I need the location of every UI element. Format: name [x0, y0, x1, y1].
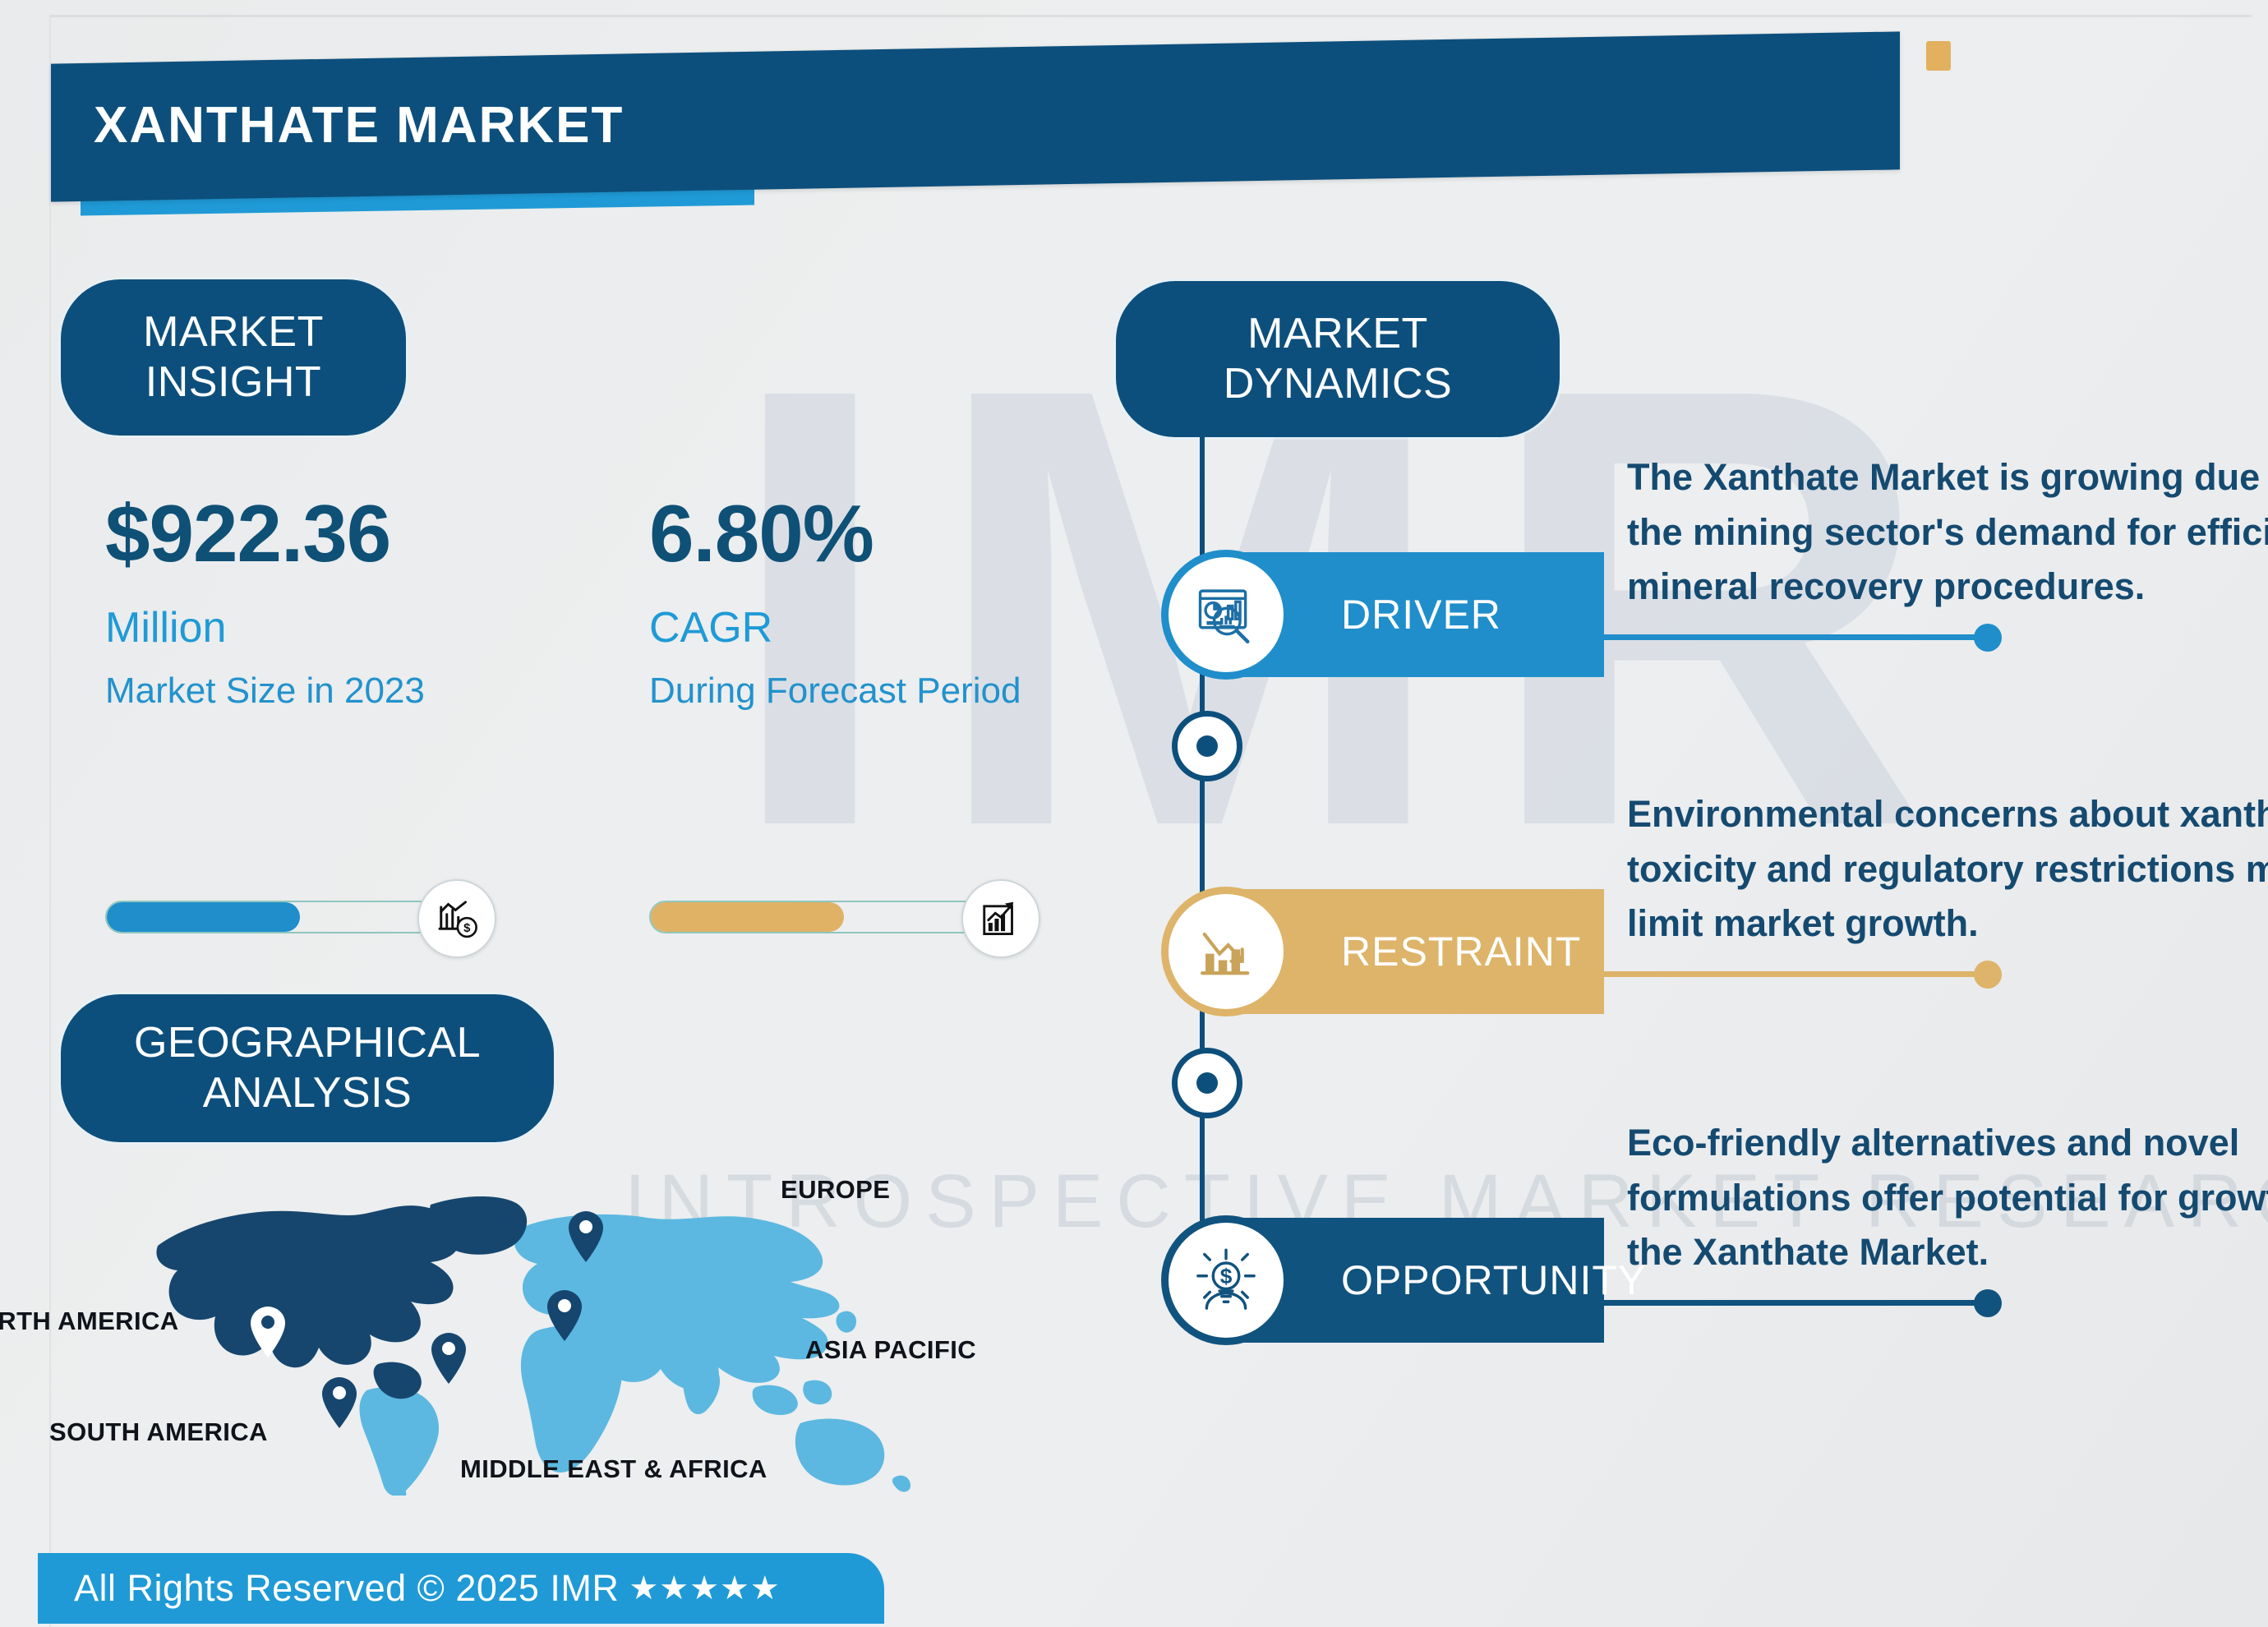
title-banner: XANTHATE MARKET [51, 48, 766, 204]
corner-tab-marker [1926, 41, 1951, 71]
svg-text:$: $ [1220, 1264, 1233, 1288]
driver-connector [1604, 634, 1990, 640]
stat-market-size: $922.36 Million Market Size in 2023 [105, 493, 425, 717]
restraint-label: RESTRAINT [1341, 928, 1581, 975]
stat-cagr: 6.80% CAGR During Forecast Period [649, 493, 1021, 717]
restraint-connector-dot [1974, 961, 2002, 989]
page-title: XANTHATE MARKET [94, 96, 624, 154]
lightbulb-dollar-icon: $ [1169, 1223, 1284, 1338]
market-insight-pill-label: MARKETINSIGHT [143, 307, 324, 408]
market-size-unit: Million [105, 601, 425, 654]
opportunity-connector-dot [1974, 1289, 2002, 1317]
cagr-value: 6.80% [649, 493, 1021, 574]
opportunity-label: OPPORTUNITY [1341, 1256, 1646, 1304]
market-size-value: $922.36 [105, 493, 425, 574]
footer-bar: All Rights Reserved © 2025 IMR ★★★★★ [38, 1553, 884, 1624]
driver-label: DRIVER [1341, 591, 1501, 638]
map-label-europe: EUROPE [781, 1175, 890, 1205]
market-dynamics-pill-label: MARKETDYNAMICS [1224, 309, 1452, 410]
market-size-description: Market Size in 2023 [105, 666, 425, 717]
restraint-connector [1604, 971, 1990, 977]
map-label-asia-pacific: ASIA PACIFIC [805, 1335, 976, 1365]
svg-text:$: $ [463, 922, 471, 935]
market-dynamics-pill: MARKETDYNAMICS [1116, 281, 1560, 437]
declining-bar-chart-icon [1169, 894, 1284, 1009]
restraint-text: Environmental concerns about xanthate to… [1627, 787, 2268, 952]
title-band: XANTHATE MARKET [51, 31, 1900, 201]
market-size-progress-row: $ [105, 879, 532, 955]
market-size-progress-track [105, 901, 454, 933]
opportunity-text: Eco-friendly alternatives and novel form… [1627, 1116, 2268, 1280]
opportunity-connector [1604, 1300, 1990, 1306]
cagr-description: During Forecast Period [649, 666, 1021, 717]
geographical-analysis-pill: GEOGRAPHICALANALYSIS [61, 994, 554, 1142]
timeline-node-2 [1172, 1048, 1242, 1118]
infographic-page: IMR INTROSPECTIVE MARKET RESEARCH XANTHA… [0, 0, 2268, 1627]
cagr-unit: CAGR [649, 601, 1021, 654]
market-insight-pill: MARKETINSIGHT [61, 279, 406, 436]
rating-stars: ★★★★★ [629, 1569, 780, 1607]
map-label-south-america: SOUTH AMERICA [49, 1417, 268, 1447]
copyright-text: All Rights Reserved © 2025 IMR [74, 1567, 619, 1610]
driver-bar[interactable]: DRIVER [1226, 552, 1604, 677]
driver-text: The Xanthate Market is growing due to th… [1627, 450, 2268, 615]
map-label-north-america: NORTH AMERICA [0, 1307, 179, 1336]
restraint-bar[interactable]: RESTRAINT [1226, 889, 1604, 1014]
cagr-progress-fill [651, 902, 844, 932]
map-label-middle-east-africa: MIDDLE EAST & AFRICA [460, 1454, 768, 1484]
dashboard-magnifier-icon [1169, 557, 1284, 672]
cagr-progress-track [649, 901, 998, 933]
bar-chart-dollar-icon: $ [417, 879, 496, 958]
cagr-progress-row [649, 879, 1076, 955]
market-size-progress-fill [107, 902, 300, 932]
growth-arrow-icon [961, 879, 1040, 958]
timeline-node-1 [1172, 711, 1242, 781]
driver-connector-dot [1974, 624, 2002, 652]
opportunity-bar[interactable]: $ OPPORTUNITY [1226, 1218, 1604, 1343]
geographical-analysis-pill-label: GEOGRAPHICALANALYSIS [134, 1018, 481, 1119]
